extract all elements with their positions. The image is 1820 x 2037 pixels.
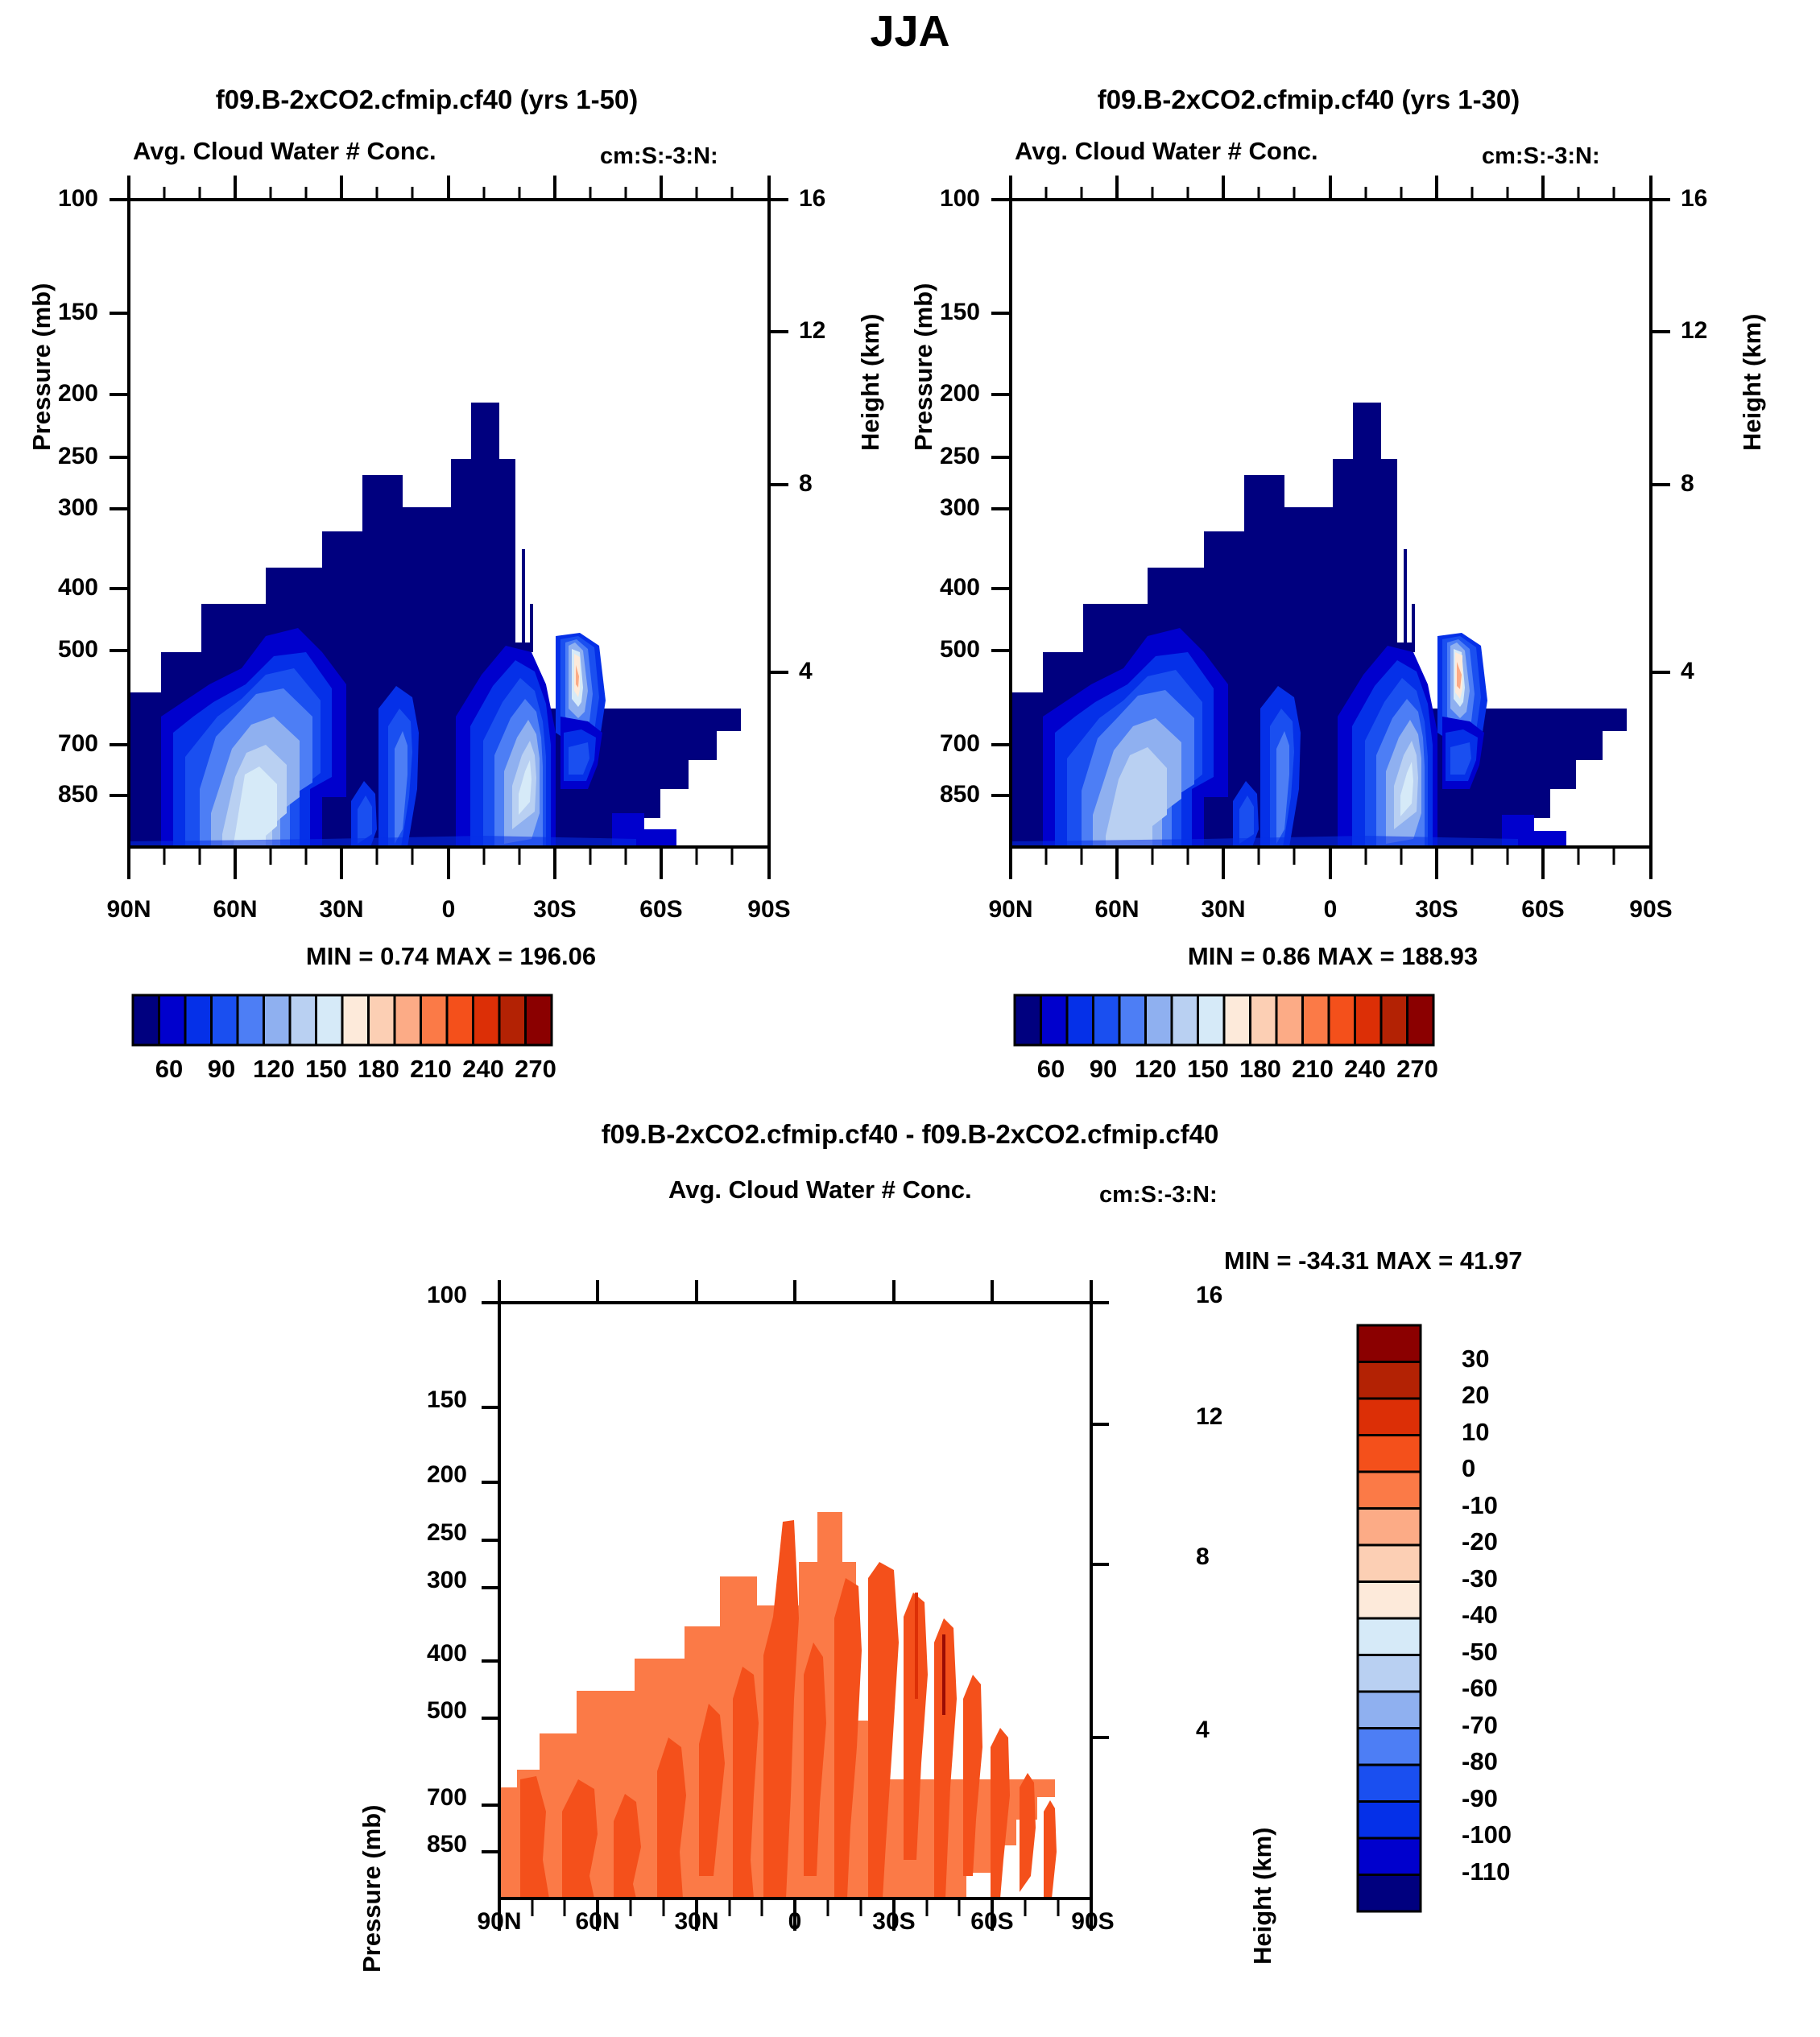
panel-diff-ytick-250: 250: [419, 1519, 467, 1547]
panel-diff-ytick-300: 300: [419, 1567, 467, 1594]
colorbar-cell[interactable]: [342, 995, 369, 1045]
panel-right-top-ticks: [1011, 176, 1651, 200]
panel-left-yticks: [110, 200, 129, 795]
panel-diff-ytick-850: 850: [419, 1831, 467, 1858]
colorbar-cell[interactable]: [421, 995, 448, 1045]
colorbar-cell[interactable]: [1067, 995, 1094, 1045]
panel-right-cbar-label-270: 270: [1385, 1055, 1450, 1084]
panel-right-xtick-30N: 30N: [1191, 896, 1255, 923]
panel-left-plot: [0, 153, 813, 966]
colorbar-cell[interactable]: [238, 995, 264, 1045]
panel-left-title: f09.B-2xCO2.cfmip.cf40 (yrs 1-50): [72, 85, 781, 115]
colorbar-tick-label: -20: [1462, 1527, 1558, 1556]
panel-left-xtick-0: 0: [416, 896, 481, 923]
panel-left-y2label: Height (km): [856, 314, 885, 452]
panel-diff-xtick-90S: 90S: [1061, 1908, 1125, 1936]
panel-diff-y2ticks: [1091, 1303, 1109, 1737]
colorbar-cell[interactable]: [1358, 1875, 1421, 1912]
colorbar-cell[interactable]: [1119, 995, 1146, 1045]
panel-right-ytick-850: 850: [932, 781, 980, 808]
panel-right-ytick-150: 150: [932, 299, 980, 326]
panel-left-bottom-ticks: [129, 847, 769, 879]
panel-diff-ytick-150: 150: [419, 1386, 467, 1414]
panel-right-xtick-90N: 90N: [978, 896, 1043, 923]
panel-left-ytick-300: 300: [50, 494, 98, 522]
colorbar-cell[interactable]: [1146, 995, 1173, 1045]
panel-diff-y2tick-8: 8: [1196, 1543, 1210, 1571]
colorbar-cell[interactable]: [1358, 1692, 1421, 1729]
panel-left-xtick-90S: 90S: [737, 896, 801, 923]
panel-diff-subtitle: Avg. Cloud Water # Conc.: [668, 1176, 972, 1204]
panel-right-xtick-0: 0: [1298, 896, 1363, 923]
panel-diff-ytick-400: 400: [419, 1640, 467, 1667]
panel-left-ytick-150: 150: [50, 299, 98, 326]
colorbar-tick-label: -80: [1462, 1747, 1558, 1776]
panel-right-y2tick-16: 16: [1681, 185, 1707, 213]
colorbar-cell[interactable]: [1015, 995, 1041, 1045]
panel-right-colorbar[interactable]: [1011, 989, 1735, 1053]
colorbar-cell[interactable]: [1408, 995, 1434, 1045]
panel-right-ytick-700: 700: [932, 730, 980, 758]
panel-left-ytick-500: 500: [50, 636, 98, 663]
colorbar-cell[interactable]: [264, 995, 291, 1045]
panel-diff-y2tick-16: 16: [1196, 1282, 1222, 1309]
panel-left-contour-field: [129, 403, 741, 847]
colorbar-cell[interactable]: [316, 995, 343, 1045]
panel-diff-colorbar[interactable]: [1353, 1320, 1458, 1948]
colorbar-cell[interactable]: [1358, 1802, 1421, 1839]
colorbar-cell[interactable]: [1358, 1838, 1421, 1875]
panel-diff-y2tick-4: 4: [1196, 1717, 1210, 1744]
panel-left-ytick-400: 400: [50, 574, 98, 601]
colorbar-cell[interactable]: [1358, 1436, 1421, 1473]
colorbar-cell[interactable]: [1381, 995, 1408, 1045]
colorbar-cell[interactable]: [1172, 995, 1198, 1045]
panel-right-bottom-ticks: [1011, 847, 1651, 879]
colorbar-cell[interactable]: [1041, 995, 1068, 1045]
panel-left-colorbar[interactable]: [129, 989, 854, 1053]
colorbar-cell[interactable]: [474, 995, 500, 1045]
panel-right-xtick-90S: 90S: [1619, 896, 1683, 923]
panel-diff-xtick-60N: 60N: [565, 1908, 630, 1936]
panel-left-y2tick-12: 12: [799, 317, 825, 345]
panel-diff-title: f09.B-2xCO2.cfmip.cf40 - f09.B-2xCO2.cfm…: [451, 1119, 1369, 1150]
panel-left-xtick-60N: 60N: [203, 896, 267, 923]
panel-left-ytick-850: 850: [50, 781, 98, 808]
panel-left-xtick-30N: 30N: [309, 896, 374, 923]
colorbar-cell[interactable]: [290, 995, 316, 1045]
colorbar-tick-label: -50: [1462, 1638, 1558, 1667]
colorbar-tick-label: 30: [1462, 1345, 1558, 1374]
colorbar-cell[interactable]: [1355, 995, 1382, 1045]
colorbar-cell[interactable]: [1358, 1655, 1421, 1692]
panel-left-y2ticks: [769, 200, 788, 672]
panel-diff-ytick-700: 700: [419, 1784, 467, 1812]
colorbar-tick-label: -30: [1462, 1564, 1558, 1593]
panel-left-xtick-60S: 60S: [629, 896, 693, 923]
colorbar-cell[interactable]: [133, 995, 159, 1045]
colorbar-cell[interactable]: [1198, 995, 1225, 1045]
panel-left-ytick-200: 200: [50, 380, 98, 407]
panel-right-xtick-60S: 60S: [1511, 896, 1575, 923]
colorbar-cell[interactable]: [1358, 1509, 1421, 1546]
panel-diff-ytick-100: 100: [419, 1282, 467, 1309]
panel-diff-units: cm:S:-3:N:: [1099, 1182, 1218, 1209]
colorbar-cell[interactable]: [1358, 1362, 1421, 1399]
panel-left-xtick-30S: 30S: [523, 896, 587, 923]
colorbar-cell[interactable]: [526, 995, 552, 1045]
colorbar-cell[interactable]: [1358, 1545, 1421, 1582]
colorbar-tick-label: 0: [1462, 1454, 1558, 1483]
panel-left-y2tick-16: 16: [799, 185, 825, 213]
panel-left-y2tick-4: 4: [799, 658, 813, 685]
panel-right-contour-field: [1011, 403, 1627, 847]
panel-right-minmax: MIN = 0.86 MAX = 188.93: [1011, 942, 1655, 971]
panel-right-ytick-400: 400: [932, 574, 980, 601]
colorbar-cell[interactable]: [395, 995, 421, 1045]
colorbar-cell[interactable]: [369, 995, 395, 1045]
panel-right-ytick-200: 200: [932, 380, 980, 407]
panel-left-ytick-100: 100: [50, 185, 98, 213]
panel-diff-contour-field: [499, 1512, 1057, 1899]
colorbar-cell[interactable]: [185, 995, 212, 1045]
panel-right-xtick-60N: 60N: [1085, 896, 1149, 923]
panel-diff-y2label: Height (km): [1248, 1828, 1277, 1965]
panel-left-cbar-label-270: 270: [503, 1055, 568, 1084]
colorbar-tick-label: 10: [1462, 1418, 1558, 1447]
colorbar-cell[interactable]: [1251, 995, 1277, 1045]
colorbar-cell[interactable]: [1358, 1399, 1421, 1436]
panel-right-xtick-30S: 30S: [1404, 896, 1469, 923]
colorbar-tick-label: -10: [1462, 1491, 1558, 1520]
panel-right-y2tick-8: 8: [1681, 470, 1694, 498]
figure-title: JJA: [0, 6, 1820, 56]
colorbar-cell[interactable]: [1094, 995, 1120, 1045]
panel-left-ytick-250: 250: [50, 443, 98, 470]
colorbar-tick-label: -110: [1462, 1857, 1558, 1886]
panel-diff-xtick-0: 0: [763, 1908, 827, 1936]
panel-diff-minmax: MIN = -34.31 MAX = 41.97: [1224, 1246, 1675, 1275]
colorbar-tick-label: 20: [1462, 1381, 1558, 1410]
colorbar-cell[interactable]: [1329, 995, 1355, 1045]
panel-diff-ytick-500: 500: [419, 1697, 467, 1725]
colorbar-tick-label: -90: [1462, 1784, 1558, 1813]
colorbar-cell[interactable]: [1303, 995, 1330, 1045]
panel-diff-xtick-90N: 90N: [467, 1908, 532, 1936]
panel-right-plot: [882, 153, 1695, 966]
colorbar-tick-label: -100: [1462, 1820, 1558, 1849]
panel-left-ytick-700: 700: [50, 730, 98, 758]
panel-right-yticks: [991, 200, 1011, 795]
colorbar-cell[interactable]: [1358, 1582, 1421, 1619]
colorbar-tick-label: -40: [1462, 1601, 1558, 1630]
colorbar-cell[interactable]: [1358, 1729, 1421, 1766]
panel-diff-ytick-200: 200: [419, 1461, 467, 1489]
panel-diff-yticks: [482, 1303, 499, 1852]
colorbar-tick-label: -60: [1462, 1674, 1558, 1703]
panel-left-minmax: MIN = 0.74 MAX = 196.06: [129, 942, 773, 971]
colorbar-cell[interactable]: [1358, 1618, 1421, 1655]
panel-right-ytick-250: 250: [932, 443, 980, 470]
panel-right-ytick-100: 100: [932, 185, 980, 213]
panel-diff-y2tick-12: 12: [1196, 1403, 1222, 1431]
panel-right-ytick-500: 500: [932, 636, 980, 663]
panel-right-title: f09.B-2xCO2.cfmip.cf40 (yrs 1-30): [954, 85, 1663, 115]
colorbar-cell[interactable]: [1358, 1325, 1421, 1362]
panel-right-ytick-300: 300: [932, 494, 980, 522]
colorbar-cell[interactable]: [1358, 1765, 1421, 1802]
panel-left-xtick-90N: 90N: [97, 896, 161, 923]
colorbar-cell[interactable]: [447, 995, 474, 1045]
panel-diff-xtick-60S: 60S: [960, 1908, 1024, 1936]
panel-diff-xtick-30N: 30N: [664, 1908, 729, 1936]
colorbar-cell[interactable]: [499, 995, 526, 1045]
colorbar-cell[interactable]: [1276, 995, 1303, 1045]
panel-left-y2tick-8: 8: [799, 470, 813, 498]
panel-left-top-ticks: [129, 176, 769, 200]
panel-right-y2label: Height (km): [1738, 314, 1767, 452]
panel-diff-xtick-30S: 30S: [862, 1908, 926, 1936]
colorbar-cell[interactable]: [1358, 1472, 1421, 1509]
colorbar-cell[interactable]: [1224, 995, 1251, 1045]
panel-right-y2tick-12: 12: [1681, 317, 1707, 345]
colorbar-cell[interactable]: [212, 995, 238, 1045]
panel-right-y2ticks: [1651, 200, 1670, 672]
panel-diff-top-ticks: [499, 1280, 1091, 1303]
colorbar-cell[interactable]: [159, 995, 186, 1045]
panel-right-y2tick-4: 4: [1681, 658, 1694, 685]
colorbar-tick-label: -70: [1462, 1711, 1558, 1740]
